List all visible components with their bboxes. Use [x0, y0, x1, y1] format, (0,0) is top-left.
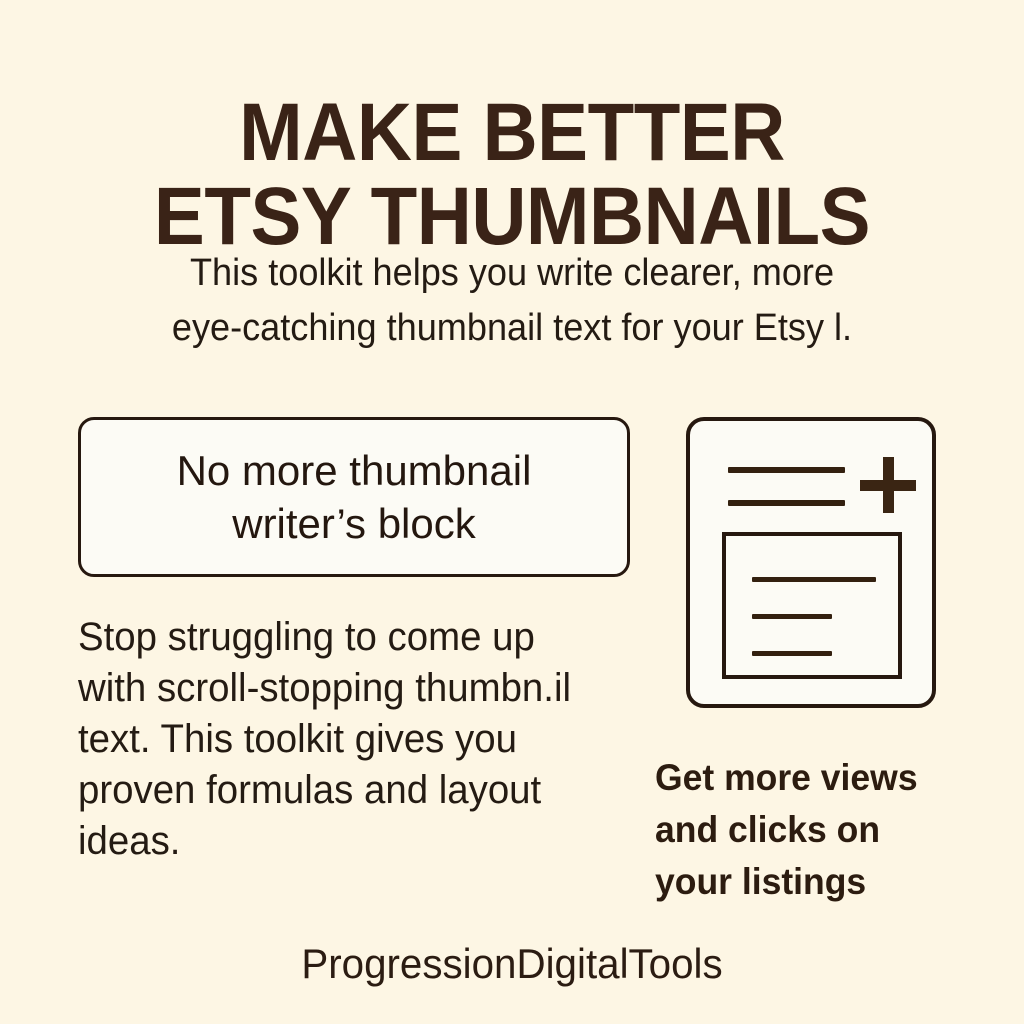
headline-line-1: MAKE BETTER — [36, 91, 988, 175]
caption-line-2: and clicks on — [655, 804, 972, 856]
caption-line-1: Get more views — [655, 752, 972, 804]
horizontal-line-icon — [728, 467, 845, 473]
subtitle-line-2: eye-catching thumbnail text for your Ets… — [85, 301, 940, 356]
callout-line-2: writer’s block — [177, 497, 532, 550]
body-line-4: proven formulas and layout — [78, 765, 635, 816]
body-line-1: Stop struggling to come up — [78, 612, 635, 663]
subtitle: This toolkit helps you write clearer, mo… — [85, 246, 940, 356]
body-line-3: text. This toolkit gives you — [78, 714, 635, 765]
plus-icon — [860, 457, 916, 513]
benefit-caption: Get more views and clicks on your listin… — [655, 752, 972, 908]
caption-line-3: your listings — [655, 856, 972, 908]
horizontal-line-icon — [752, 614, 832, 619]
callout-line-1: No more thumbnail — [177, 444, 532, 497]
thumbnail-layout-icon-card — [686, 417, 936, 708]
brand-name: ProgressionDigitalTools — [20, 938, 1003, 990]
page-title: MAKE BETTER ETSY THUMBNAILS — [36, 91, 988, 259]
horizontal-line-icon — [752, 651, 832, 656]
body-paragraph: Stop struggling to come up with scroll-s… — [78, 612, 635, 867]
body-line-5: ideas. — [78, 816, 635, 867]
horizontal-line-icon — [752, 577, 876, 582]
subtitle-line-1: This toolkit helps you write clearer, mo… — [85, 246, 940, 301]
plus-horizontal-stroke — [860, 480, 916, 491]
body-line-2: with scroll-stopping thumbn.il — [78, 663, 635, 714]
text-block-frame-icon — [722, 532, 902, 679]
callout-box: No more thumbnail writer’s block — [78, 417, 630, 577]
horizontal-line-icon — [728, 500, 845, 506]
poster-canvas: MAKE BETTER ETSY THUMBNAILS This toolkit… — [0, 0, 1024, 1024]
callout-text: No more thumbnail writer’s block — [177, 444, 532, 550]
